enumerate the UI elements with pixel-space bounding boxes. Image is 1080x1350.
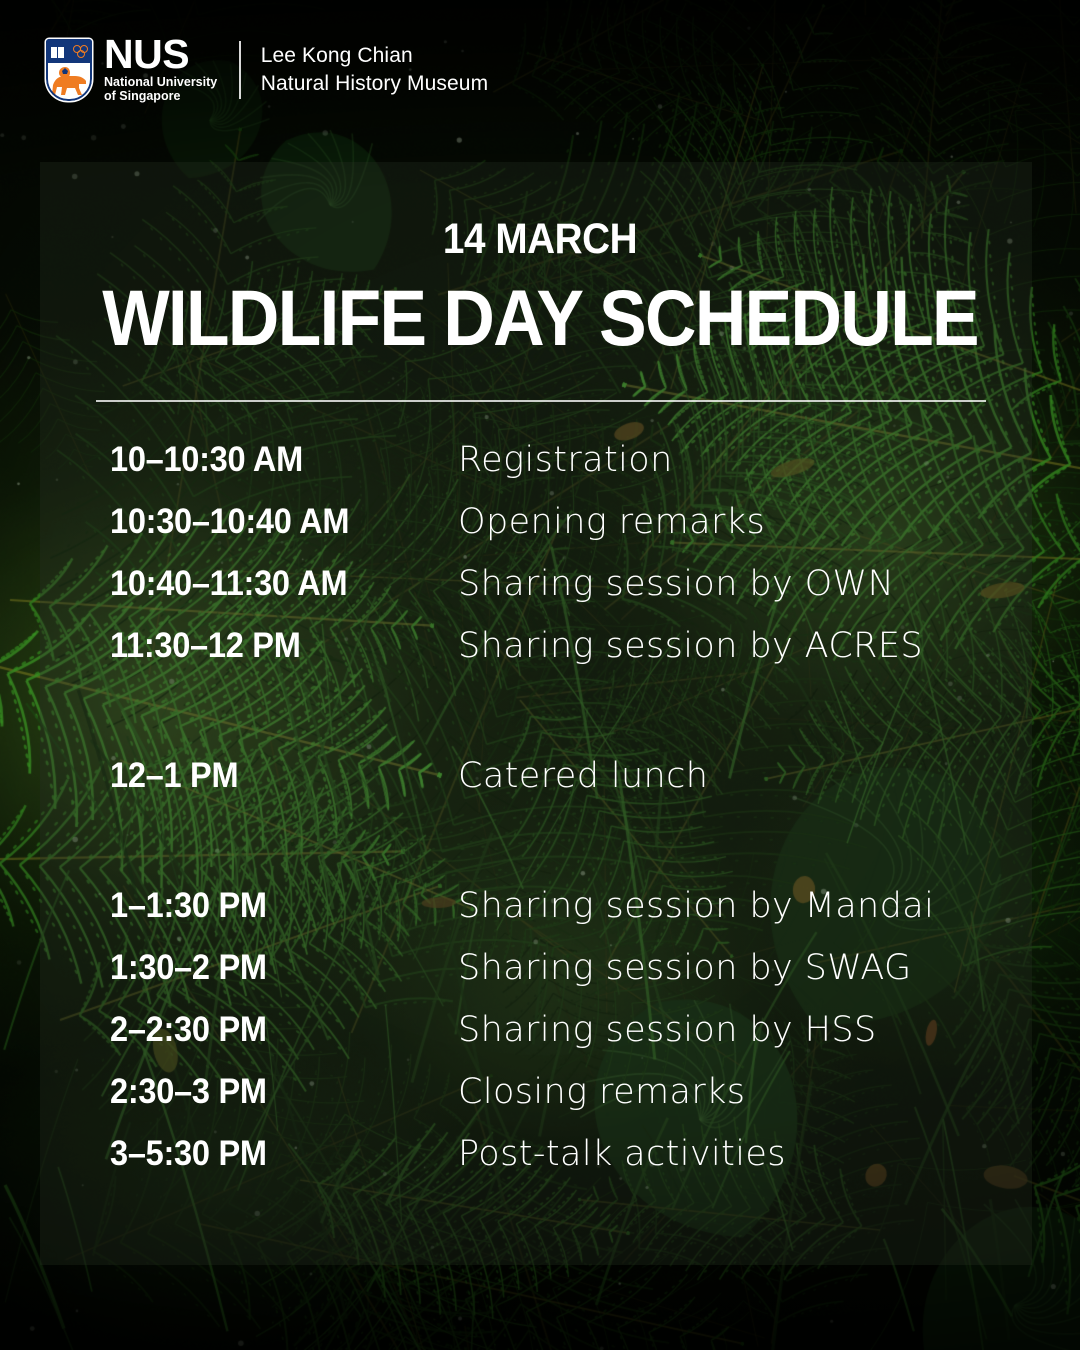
schedule-row: 10–10:30 AMRegistration [110,440,1010,502]
nus-wordmark: NUS National University of Singapore [104,36,217,104]
schedule-row: 11:30–12 PMSharing session by ACRES [110,626,1010,688]
schedule-row: 10:30–10:40 AMOpening remarks [110,502,1010,564]
schedule-activity: Sharing session by Mandai [458,886,934,926]
schedule-time: 1:30–2 PM [110,948,434,988]
schedule-list: 10–10:30 AMRegistration10:30–10:40 AMOpe… [110,440,1010,1196]
interlocking-rings-icon [73,45,88,58]
nus-crest-icon [46,39,92,101]
nus-fullname-line2: of Singapore [104,89,217,104]
schedule-row: 2:30–3 PMClosing remarks [110,1072,1010,1134]
schedule-time: 10:30–10:40 AM [110,502,434,542]
schedule-row: 1–1:30 PMSharing session by Mandai [110,886,1010,948]
schedule-activity: Sharing session by OWN [458,564,894,604]
schedule-activity: Registration [458,440,673,480]
schedule-row: 3–5:30 PMPost-talk activities [110,1134,1010,1196]
schedule-row: 12–1 PMCatered lunch [110,756,1010,818]
crest-top-band [46,39,92,64]
schedule-activity: Sharing session by ACRES [458,626,923,666]
lion-icon [46,63,92,101]
logo-divider [239,41,241,99]
schedule-time: 10–10:30 AM [110,440,434,480]
nus-fullname-line1: National University [104,75,217,90]
schedule-time: 12–1 PM [110,756,434,796]
museum-name-line1: Lee Kong Chian [261,42,488,70]
nus-acronym: NUS [104,36,217,74]
title-divider-rule [96,400,986,402]
schedule-time: 3–5:30 PM [110,1134,434,1174]
schedule-time: 2:30–3 PM [110,1072,434,1112]
schedule-activity: Post-talk activities [458,1134,786,1174]
schedule-time: 10:40–11:30 AM [110,564,434,604]
museum-name: Lee Kong Chian Natural History Museum [261,42,488,97]
schedule-time: 11:30–12 PM [110,626,434,666]
open-book-icon [50,46,65,57]
schedule-activity: Sharing session by SWAG [458,948,912,988]
event-date: 14 MARCH [54,215,1026,264]
schedule-row: 1:30–2 PMSharing session by SWAG [110,948,1010,1010]
schedule-activity: Sharing session by HSS [458,1010,877,1050]
schedule-activity: Catered lunch [458,756,708,796]
schedule-row: 10:40–11:30 AMSharing session by OWN [110,564,1010,626]
page-title: WILDLIFE DAY SCHEDULE [51,272,1028,364]
schedule-activity: Closing remarks [458,1072,745,1112]
schedule-time: 2–2:30 PM [110,1010,434,1050]
museum-name-line2: Natural History Museum [261,70,488,98]
schedule-time: 1–1:30 PM [110,886,434,926]
schedule-row: 2–2:30 PMSharing session by HSS [110,1010,1010,1072]
schedule-activity: Opening remarks [458,502,765,542]
nus-lkcnhm-logo: NUS National University of Singapore Lee… [46,36,488,104]
